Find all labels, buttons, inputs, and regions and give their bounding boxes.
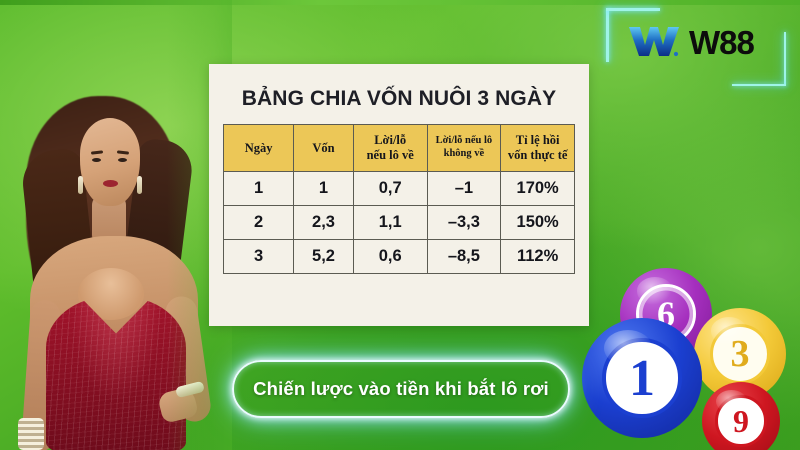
table-header: Ngày Vốn Lời/lỗ nếu lô về Lời/lỗ nếu lô … <box>224 125 575 172</box>
lottery-ball-1-highlight <box>604 330 652 366</box>
cell-profit-lose: –8,5 <box>427 240 501 274</box>
cell-recovery-rate: 150% <box>501 206 575 240</box>
th-loilo-neu-lo-ve-line1: Lời/lỗ <box>374 133 406 147</box>
th-von-line1: Vốn <box>312 141 334 155</box>
table-header-row: Ngày Vốn Lời/lỗ nếu lô về Lời/lỗ nếu lô … <box>224 125 575 172</box>
w88-logo[interactable]: W88 <box>606 8 786 86</box>
cell-day: 1 <box>224 172 294 206</box>
card-title: BẢNG CHIA VỐN NUÔI 3 NGÀY <box>209 64 589 111</box>
th-ti-le-hoi-von-line1: Tỉ lệ hồi <box>516 133 560 147</box>
th-loilo-neu-lo-ve: Lời/lỗ nếu lô về <box>353 125 427 172</box>
cell-day: 2 <box>224 206 294 240</box>
cell-recovery-rate: 112% <box>501 240 575 274</box>
cell-recovery-rate: 170% <box>501 172 575 206</box>
lottery-ball-1: 1 <box>582 318 702 438</box>
th-ti-le-hoi-von: Tỉ lệ hồi vốn thực tế <box>501 125 575 172</box>
th-loilo-khong-ve-line1: Lời/lỗ nếu lô <box>436 135 493 146</box>
cell-profit-win: 0,7 <box>353 172 427 206</box>
lottery-ball-9: 9 <box>702 382 780 450</box>
table-wrapper: Ngày Vốn Lời/lỗ nếu lô về Lời/lỗ nếu lô … <box>209 111 589 274</box>
cell-day: 3 <box>224 240 294 274</box>
cell-capital: 1 <box>294 172 354 206</box>
table-row: 2 2,3 1,1 –3,3 150% <box>224 206 575 240</box>
table-body: 1 1 0,7 –1 170% 2 2,3 1,1 –3,3 150% 3 5,… <box>224 172 575 274</box>
cell-capital: 2,3 <box>294 206 354 240</box>
th-ti-le-hoi-von-line2: vốn thực tế <box>508 148 568 162</box>
th-loilo-khong-ve-line2: không về <box>444 148 485 159</box>
th-loilo-neu-lo-khong-ve: Lời/lỗ nếu lô không về <box>427 125 501 172</box>
w88-w-mark-icon <box>628 25 680 59</box>
cell-profit-lose: –1 <box>427 172 501 206</box>
table-row: 1 1 0,7 –1 170% <box>224 172 575 206</box>
lottery-ball-6-highlight <box>637 277 674 305</box>
table-row: 3 5,2 0,6 –8,5 112% <box>224 240 575 274</box>
th-von: Vốn <box>294 125 354 172</box>
model-edge-fade <box>0 0 232 450</box>
w88-logo-text: W88 <box>689 26 754 59</box>
model-photo <box>0 0 232 450</box>
cell-capital: 5,2 <box>294 240 354 274</box>
lottery-ball-3-highlight <box>711 317 748 345</box>
th-ngay-line1: Ngày <box>245 141 273 155</box>
cell-profit-win: 0,6 <box>353 240 427 274</box>
capital-split-table: Ngày Vốn Lời/lỗ nếu lô về Lời/lỗ nếu lô … <box>223 124 575 274</box>
caption-pill: Chiến lược vào tiền khi bắt lô rơi <box>232 360 570 418</box>
lottery-balls-group: 6 3 9 1 <box>582 266 800 450</box>
capital-split-card: BẢNG CHIA VỐN NUÔI 3 NGÀY Ngày Vốn Lời/l… <box>209 64 589 326</box>
th-ngay: Ngày <box>224 125 294 172</box>
caption-text: Chiến lược vào tiền khi bắt lô rơi <box>253 378 549 400</box>
cell-profit-win: 1,1 <box>353 206 427 240</box>
th-loilo-neu-lo-ve-line2: nếu lô về <box>367 148 414 162</box>
cell-profit-lose: –3,3 <box>427 206 501 240</box>
